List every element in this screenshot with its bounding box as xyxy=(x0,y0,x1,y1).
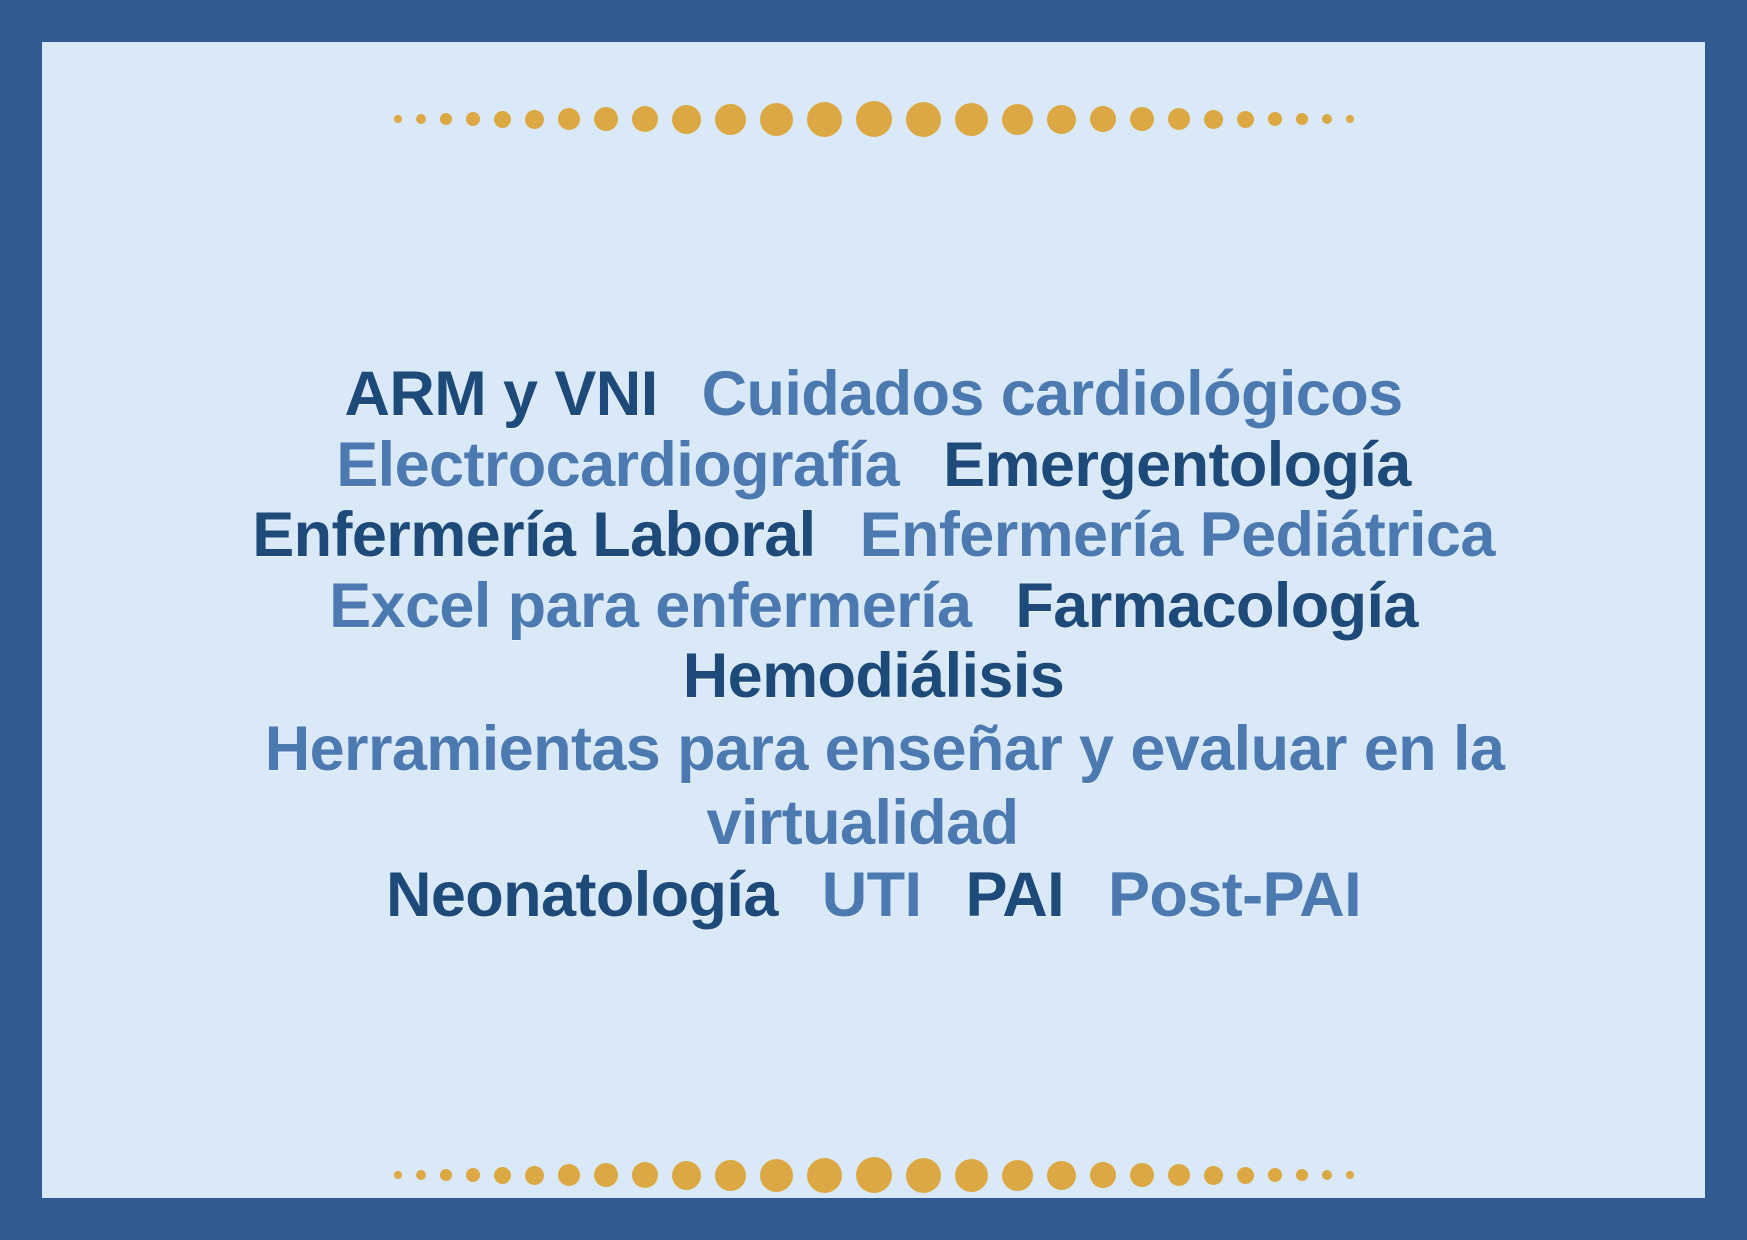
gold-dot xyxy=(856,101,892,137)
gold-dot xyxy=(416,1170,426,1180)
gold-dot xyxy=(1168,108,1190,130)
gold-dot xyxy=(760,103,793,136)
gold-dot xyxy=(955,103,988,136)
gold-dot xyxy=(1204,1166,1223,1185)
course-item[interactable]: PAI xyxy=(965,860,1064,931)
gold-dot xyxy=(807,102,842,137)
gold-dot xyxy=(1090,1162,1116,1188)
gold-dot xyxy=(1047,105,1076,134)
gold-dot xyxy=(466,1168,480,1182)
gold-dot xyxy=(494,1167,511,1184)
course-list: ARM y VNICuidados cardiológicosElectroca… xyxy=(42,138,1705,1152)
gold-dot xyxy=(466,112,480,126)
course-item[interactable]: Neonatología xyxy=(386,860,778,931)
gold-dot xyxy=(416,114,426,124)
gold-dot xyxy=(955,1159,988,1192)
course-item[interactable]: ARM y VNI xyxy=(344,359,657,430)
course-item[interactable]: Electrocardiografía xyxy=(336,430,899,501)
gold-dot xyxy=(1346,1171,1354,1179)
course-line: ARM y VNICuidados cardiológicos xyxy=(82,359,1665,430)
gold-dot xyxy=(594,1163,618,1187)
gold-dot xyxy=(856,1157,892,1193)
gold-dot xyxy=(1268,1168,1282,1182)
gold-dot xyxy=(1130,107,1154,131)
course-line: NeonatologíaUTIPAIPost-PAI xyxy=(82,860,1665,931)
gold-dot xyxy=(632,1162,658,1188)
gold-dot xyxy=(906,102,941,137)
course-line: Enfermería LaboralEnfermería Pediátrica xyxy=(82,500,1665,571)
gold-dot xyxy=(1130,1163,1154,1187)
gold-dot xyxy=(1322,1170,1332,1180)
gold-dot xyxy=(1237,111,1254,128)
gold-dot-divider-bottom xyxy=(42,1152,1705,1198)
gold-dot xyxy=(494,111,511,128)
gold-dot xyxy=(440,1169,452,1181)
gold-dot xyxy=(440,113,452,125)
gold-dot xyxy=(558,108,580,130)
gold-dot xyxy=(594,107,618,131)
course-line: ElectrocardiografíaEmergentología xyxy=(82,430,1665,501)
gold-dot xyxy=(632,106,658,132)
course-item[interactable]: Emergentología xyxy=(943,430,1411,501)
gold-dot xyxy=(394,1171,402,1179)
gold-dot xyxy=(1002,1160,1033,1191)
gold-dot xyxy=(525,1166,544,1185)
gold-dot xyxy=(906,1158,941,1193)
gold-dot xyxy=(558,1164,580,1186)
course-line: Hemodiálisis xyxy=(82,641,1665,712)
gold-dot xyxy=(1168,1164,1190,1186)
gold-dot xyxy=(1002,104,1033,135)
gold-dot xyxy=(1296,113,1308,125)
gold-dot xyxy=(715,1160,746,1191)
gold-dot xyxy=(807,1158,842,1193)
gold-dot xyxy=(1296,1169,1308,1181)
gold-dot xyxy=(1237,1167,1254,1184)
course-item[interactable]: Herramientas para enseñar y evaluar en l… xyxy=(265,714,1505,858)
gold-dot xyxy=(1047,1161,1076,1190)
course-line: Herramientas para enseñar y evaluar en l… xyxy=(82,712,1665,861)
poster-outer-frame: ARM y VNICuidados cardiológicosElectroca… xyxy=(0,0,1747,1240)
gold-dot xyxy=(672,105,701,134)
course-line: Excel para enfermeríaFarmacología xyxy=(82,571,1665,642)
gold-dot xyxy=(1346,115,1354,123)
course-item[interactable]: Farmacología xyxy=(1015,571,1417,642)
gold-dot xyxy=(672,1161,701,1190)
gold-dot xyxy=(1204,110,1223,129)
course-item[interactable]: UTI xyxy=(822,860,922,931)
course-item[interactable]: Hemodiálisis xyxy=(683,641,1064,712)
gold-dot xyxy=(1322,114,1332,124)
course-item[interactable]: Post-PAI xyxy=(1108,860,1361,931)
gold-dot xyxy=(1268,112,1282,126)
gold-dot xyxy=(394,115,402,123)
gold-dot-divider-top xyxy=(42,96,1705,142)
poster-inner-panel: ARM y VNICuidados cardiológicosElectroca… xyxy=(42,42,1705,1198)
gold-dot xyxy=(715,104,746,135)
gold-dot xyxy=(760,1159,793,1192)
course-item[interactable]: Excel para enfermería xyxy=(329,571,971,642)
course-item[interactable]: Enfermería Laboral xyxy=(252,500,815,571)
course-item[interactable]: Cuidados cardiológicos xyxy=(702,359,1403,430)
gold-dot xyxy=(525,110,544,129)
course-item[interactable]: Enfermería Pediátrica xyxy=(860,500,1495,571)
gold-dot xyxy=(1090,106,1116,132)
